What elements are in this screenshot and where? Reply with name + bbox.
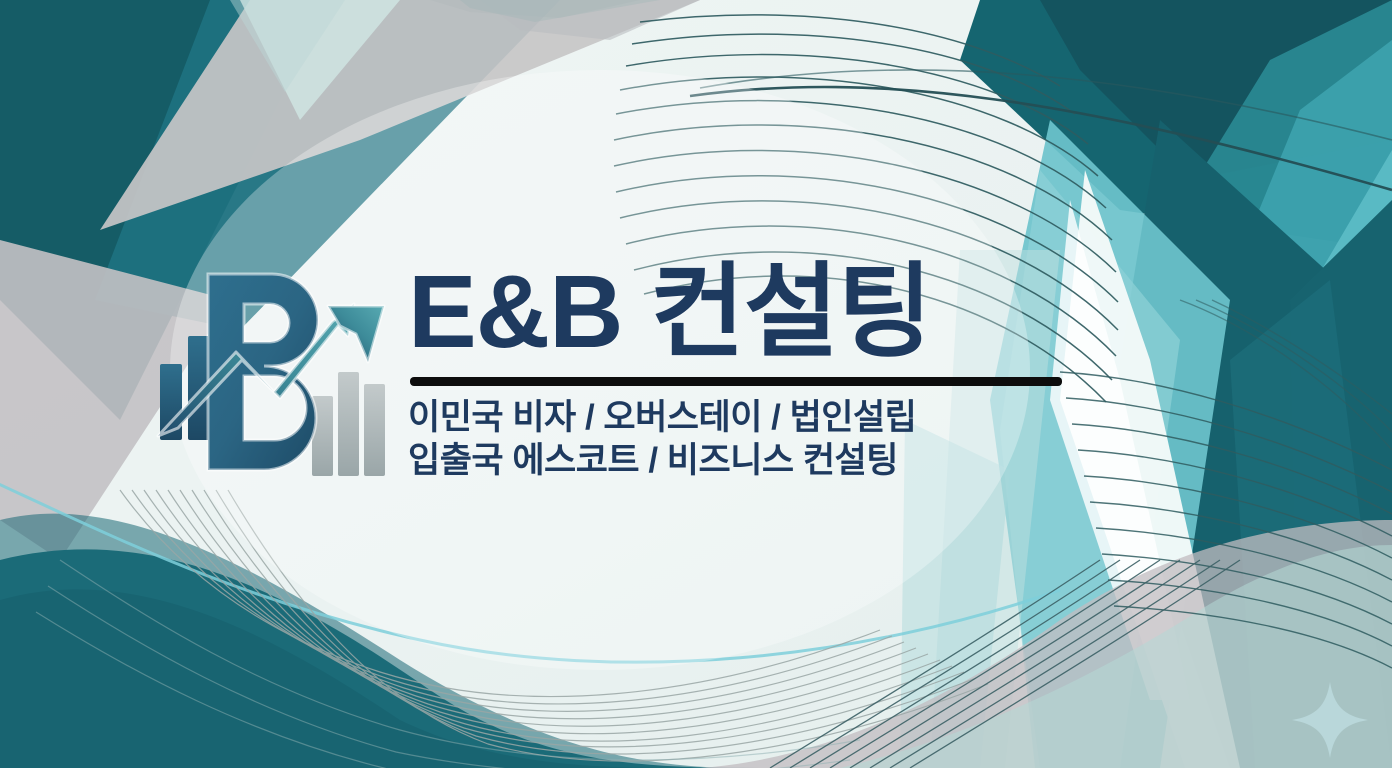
poster-canvas: E&B 컨설팅 이민국 비자 / 오버스테이 / 법인설립 입출국 에스코트 /… [0, 0, 1392, 768]
title-block: E&B 컨설팅 이민국 비자 / 오버스테이 / 법인설립 입출국 에스코트 /… [408, 262, 1068, 480]
subtitle-line-2: 입출국 에스코트 / 비즈니스 컨설팅 [408, 441, 1068, 480]
brand-lockup: E&B 컨설팅 이민국 비자 / 오버스테이 / 법인설립 입출국 에스코트 /… [0, 0, 1392, 768]
page-title: E&B 컨설팅 [408, 262, 1068, 363]
company-logo-icon [152, 266, 398, 494]
subtitle-line-1: 이민국 비자 / 오버스테이 / 법인설립 [408, 398, 1068, 437]
title-underline-rule [410, 377, 1062, 386]
